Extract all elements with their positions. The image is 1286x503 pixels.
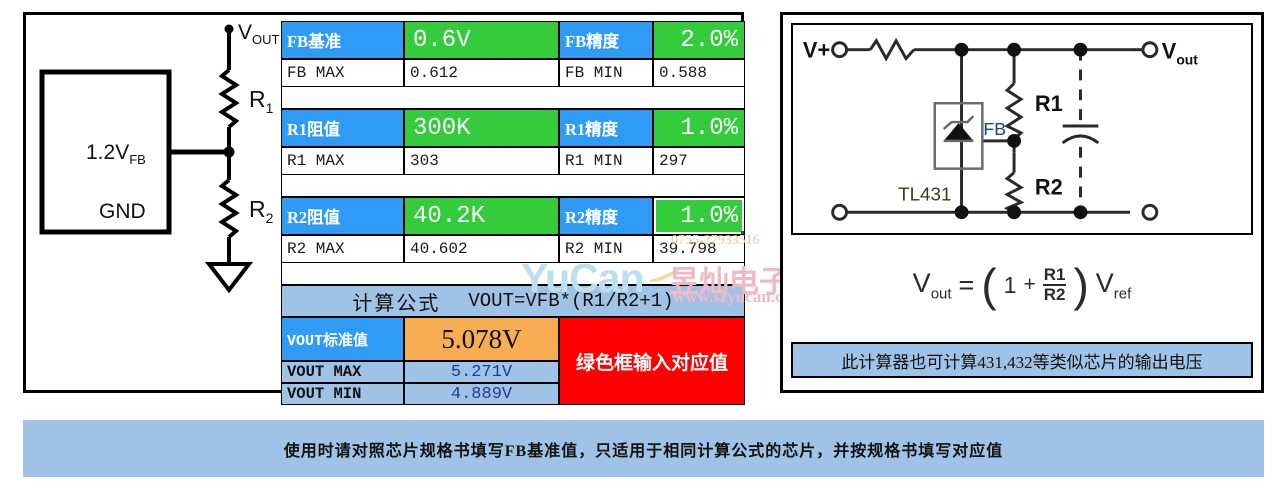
formula-rhs: Vref [1096,268,1132,302]
fraction-denominator: R2 [1044,286,1066,304]
r2-label: R2 [249,196,274,226]
spacer-row [281,87,745,109]
fb-reference-label: FB基准 [281,21,404,59]
vplus-label: V+ [803,38,830,63]
table-row: FB基准 0.6V FB精度 2.0% [281,21,745,59]
fb-min-value: 0.588 [653,59,745,87]
r2-accuracy-value[interactable]: 1.0% [653,197,745,235]
fb-max-label: FB MAX [281,59,404,87]
r1-min-value: 297 [653,147,745,175]
fb-accuracy-label: FB精度 [559,21,653,59]
vout-min-value: 4.889V [404,383,559,405]
fb-max-value: 0.612 [404,59,559,87]
spacer-row [281,263,745,285]
table-row: R1 MAX 303 R1 MIN 297 [281,147,745,175]
fraction-numerator: R1 [1043,266,1067,286]
formula-plus: + [1023,273,1035,297]
formula-lhs: Vout [913,268,952,302]
r2-min-label: R2 MIN [559,235,653,263]
fb-min-label: FB MIN [559,59,653,87]
r1-max-value: 303 [404,147,559,175]
r1-accuracy-value[interactable]: 1.0% [653,109,745,147]
spacer-row [281,175,745,197]
tl431-label: TL431 [898,183,951,204]
vout-max-value: 5.271V [404,361,559,383]
r1-max-label: R1 MAX [281,147,404,175]
green-box-hint: 绿色框输入对应值 [559,317,745,405]
formula-title: 计算公式 [352,287,440,316]
table-row: R1阻值 300K R1精度 1.0% [281,109,745,147]
calculator-spreadsheet: FB基准 0.6V FB精度 2.0% FB MAX 0.612 FB MIN … [281,21,745,391]
r2-resistor-symbol [222,180,236,237]
table-row: FB MAX 0.612 FB MIN 0.588 [281,59,745,87]
vout-formula: Vout = ( 1 + R1 R2 ) Vref [791,240,1253,330]
r2-min-value: 39.798 [653,235,745,263]
node-dot [1074,43,1088,57]
vout-terminal-dot [225,25,234,34]
r2-resistance-value[interactable]: 40.2K [404,197,559,235]
r2-accuracy-text: 1.0% [680,203,738,230]
gnd-label: GND [99,200,146,223]
r1-min-label: R1 MIN [559,147,653,175]
r1-resistance-label: R1阻值 [281,109,404,147]
node-dot [1007,205,1021,219]
right-panel-note: 此计算器也可计算431,432等类似芯片的输出电压 [791,342,1253,378]
left-circuit-diagram: VOUT R1 R2 1.2VFB GND [26,15,284,345]
r2-max-value: 40.602 [404,235,559,263]
table-row: R2阻值 40.2K R2精度 1.0% [281,197,745,235]
formula-one: 1 [1004,272,1017,299]
close-paren: ) [1073,267,1088,304]
r1-accuracy-label: R1精度 [559,109,653,147]
r2-resistance-label: R2阻值 [281,197,404,235]
tl431-circuit-box: V+ Vout R1 R2 FB TL431 [791,23,1253,235]
r1-over-r2-fraction: R1 R2 [1043,266,1067,305]
formula-equals: = [959,270,975,301]
r2-accuracy-label: R2精度 [559,197,653,235]
node-dot [1074,205,1088,219]
vout-terminal [1143,43,1157,57]
left-panel: VOUT R1 R2 1.2VFB GND FB基准 0.6V FB精度 2.0… [23,12,744,393]
vout-max-label: VOUT MAX [281,361,404,383]
fb-reference-value[interactable]: 0.6V [404,21,559,59]
gnd-out-terminal [1143,205,1157,219]
vout-label: Vout [1162,39,1198,68]
vplus-terminal [833,43,847,57]
gnd-in-terminal [833,205,847,219]
node-dot [1007,43,1021,57]
table-row: R2 MAX 40.602 R2 MIN 39.798 [281,235,745,263]
right-panel: V+ Vout R1 R2 FB TL431 Vout = ( 1 + R1 R… [780,12,1264,393]
series-resistor-symbol [870,41,914,59]
ground-symbol [209,264,249,290]
cap-plate-bottom [1063,136,1099,143]
r1-label: R1 [249,86,274,116]
open-paren: ( [981,267,996,304]
vout-min-label: VOUT MIN [281,383,404,405]
tl431-circuit-diagram: V+ Vout R1 R2 FB TL431 [793,25,1251,233]
cell-selection-handle[interactable] [741,231,745,235]
vout-standard-label: VOUT标准值 [281,317,404,361]
r1-resistor-symbol [222,70,236,127]
r2-max-label: R2 MAX [281,235,404,263]
fb-accuracy-value[interactable]: 2.0% [653,21,745,59]
vout-standard-value: 5.078V [404,317,559,361]
r1-resistor-symbol [1007,83,1021,139]
node-dot [1007,134,1021,148]
formula-expression: VOUT=VFB*(R1/R2+1) [468,290,673,312]
bottom-instruction-banner: 使用时请对照芯片规格书填写FB基准值，只适用于相同计算公式的芯片，并按规格书填写… [23,420,1264,477]
formula-row: 计算公式 VOUT=VFB*(R1/R2+1) [281,285,745,317]
node-dot [955,205,969,219]
r2-label: R2 [1035,174,1063,199]
r1-resistance-value[interactable]: 300K [404,109,559,147]
r1-label: R1 [1035,91,1063,116]
fb-label: FB [983,119,1006,139]
vout-label: VOUT [238,21,280,47]
node-dot [955,43,969,57]
